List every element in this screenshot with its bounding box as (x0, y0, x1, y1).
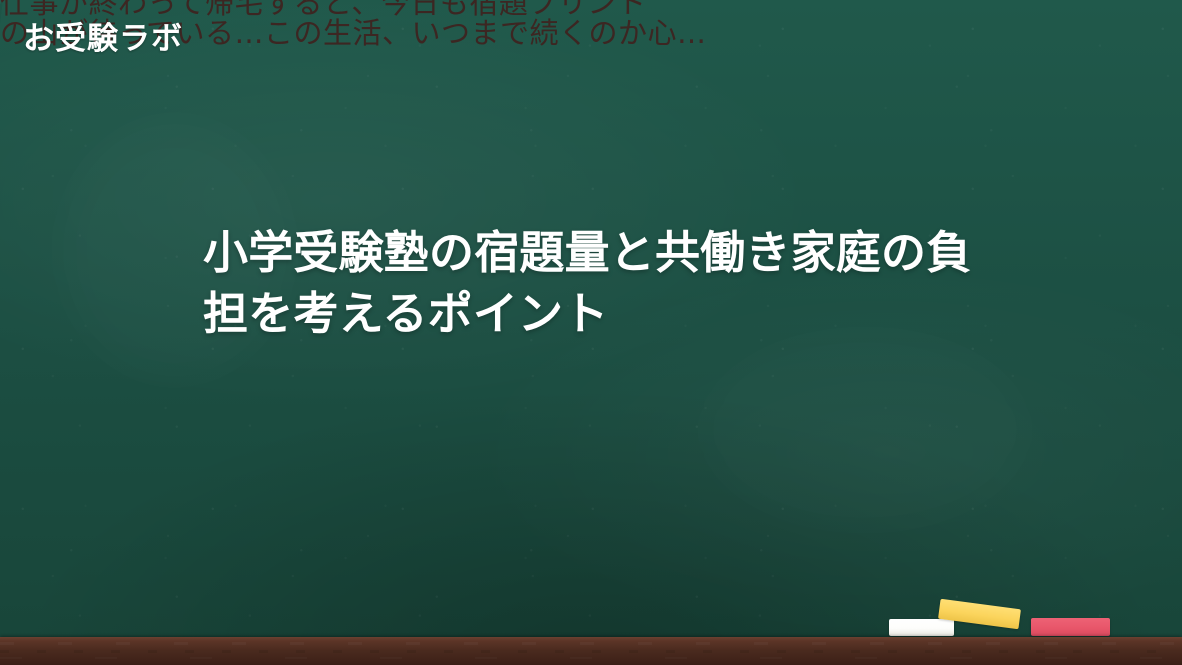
white-chalk-stick (889, 619, 954, 636)
chalk-tray (0, 637, 1182, 665)
chalkboard-title-card: 仕事が終わって帰宅すると、今日も宿題プリント の山が待っている…この生活、いつま… (0, 0, 1182, 665)
page-title: 小学受験塾の宿題量と共働き家庭の負担を考えるポイント (203, 222, 1003, 344)
red-chalk-stick (1031, 618, 1110, 636)
chalk-tray-wood-grain (0, 637, 1182, 665)
site-logo[interactable]: お受験ラボ (23, 21, 183, 57)
